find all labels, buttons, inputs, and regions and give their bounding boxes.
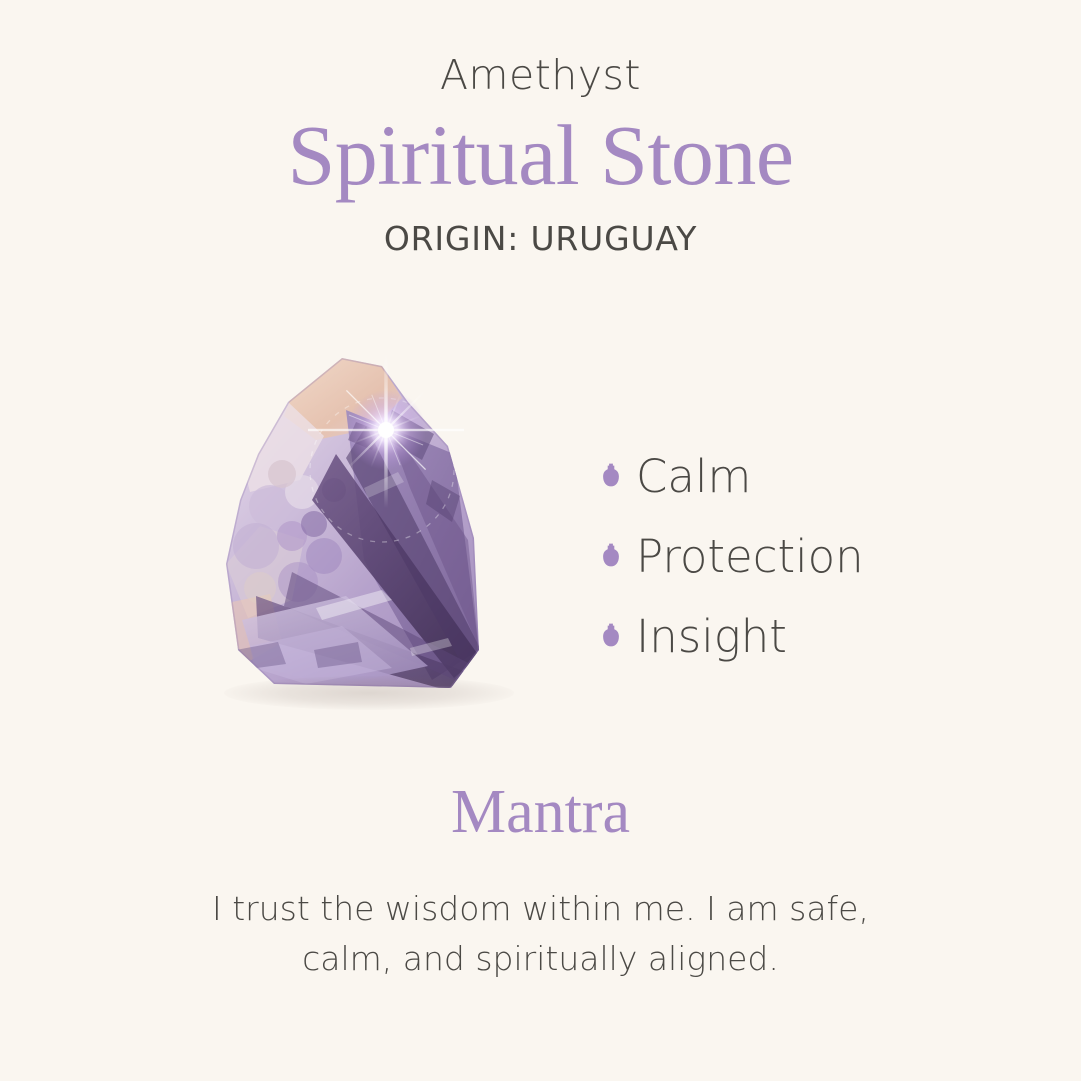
- list-item: Protection: [602, 516, 864, 596]
- crystal-bullet-icon: [602, 623, 620, 649]
- list-item: Calm: [602, 436, 864, 516]
- benefit-label: Calm: [636, 454, 751, 499]
- crystal-graphic: [196, 350, 526, 710]
- amethyst-crystal-card: Amethyst Spiritual Stone ORIGIN: URUGUAY: [0, 0, 1081, 1081]
- card-header: Amethyst Spiritual Stone ORIGIN: URUGUAY: [0, 52, 1081, 258]
- benefit-label: Insight: [636, 614, 787, 659]
- mantra-title: Mantra: [0, 778, 1081, 846]
- amethyst-crystal-illustration: [196, 350, 526, 710]
- benefit-label: Protection: [636, 534, 864, 579]
- crystal-bullet-icon: [602, 463, 620, 489]
- crystal-bullet-icon: [602, 543, 620, 569]
- page-title: Spiritual Stone: [0, 107, 1081, 203]
- list-item: Insight: [602, 596, 864, 676]
- benefits-list: Calm Protection Insight: [602, 436, 864, 676]
- middle-section: Calm Protection Insight: [0, 340, 1081, 740]
- stone-name-eyebrow: Amethyst: [0, 52, 1081, 99]
- mantra-section: Mantra I trust the wisdom within me. I a…: [0, 778, 1081, 985]
- origin-label: ORIGIN: URUGUAY: [0, 219, 1081, 258]
- mantra-text: I trust the wisdom within me. I am safe,…: [181, 884, 901, 984]
